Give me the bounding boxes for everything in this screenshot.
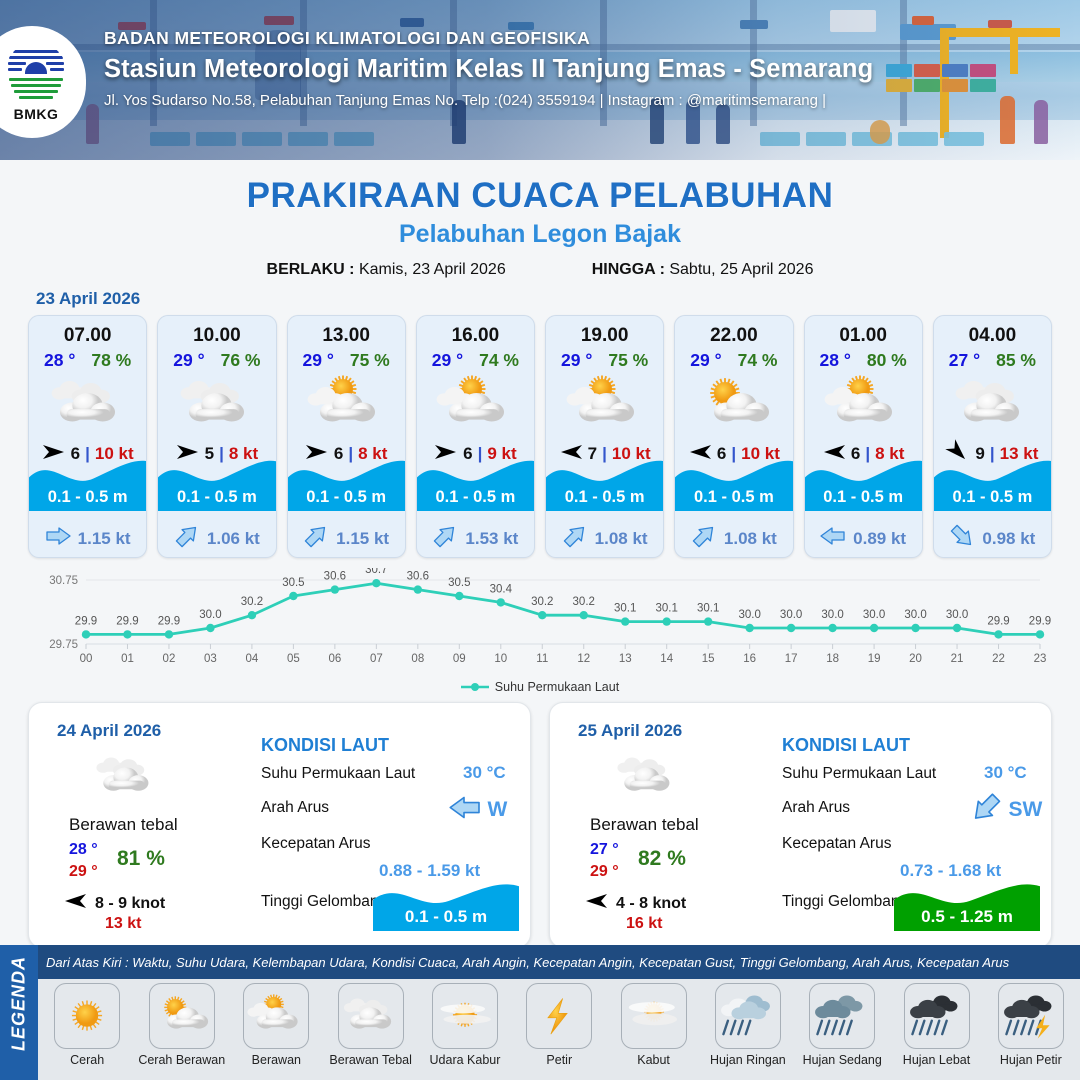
svg-text:30.0: 30.0 <box>780 609 802 621</box>
current-direction-label: Arah Arus <box>782 799 850 817</box>
current-direction-arrow-icon <box>45 526 71 551</box>
svg-text:29.9: 29.9 <box>987 615 1009 627</box>
svg-text:00: 00 <box>80 653 93 665</box>
panel-wind: 4 - 8 knot <box>584 891 686 916</box>
forecast-card: 16.00 29 ° 74 % <box>416 315 535 558</box>
chart-legend-label: Suhu Permukaan Laut <box>495 680 619 694</box>
sea-condition-title: KONDISI LAUT <box>261 735 389 756</box>
wave-height: 0.1 - 0.5 m <box>675 488 792 507</box>
svg-text:30.0: 30.0 <box>863 609 885 621</box>
svg-text:06: 06 <box>328 653 341 665</box>
legend-section: LEGENDA Dari Atas Kiri : Waktu, Suhu Uda… <box>0 945 1080 1080</box>
forecast-temperature: 29 ° <box>173 350 204 371</box>
current-direction-arrow-icon <box>691 526 717 551</box>
legend-sidebar-label: LEGENDA <box>9 952 30 1056</box>
forecast-card: 22.00 29 ° 74 % 6 | 10 <box>674 315 793 558</box>
forecast-temperature: 29 ° <box>303 350 334 371</box>
forecast-humidity: 76 % <box>221 350 261 371</box>
hujan-sedang-icon <box>809 983 875 1049</box>
panel-condition: Berawan tebal <box>69 815 178 835</box>
forecast-temperature: 28 ° <box>820 350 851 371</box>
current-speed: 1.06 kt <box>207 529 260 549</box>
cerah-icon <box>54 983 120 1049</box>
svg-text:19: 19 <box>868 653 881 665</box>
forecast-humidity: 85 % <box>996 350 1036 371</box>
current-direction-arrow-icon <box>949 526 975 551</box>
panel-temp-max: 29 ° <box>69 863 98 881</box>
wind-direction-arrow-icon <box>63 891 87 916</box>
daily-forecast-panel: 24 April 2026 <box>28 702 531 948</box>
forecast-card: 10.00 29 ° 76 % <box>157 315 276 558</box>
forecast-card-row: 07.00 28 ° 78 % <box>0 309 1080 558</box>
wave-height-label: Tinggi Gelombang <box>782 893 908 911</box>
wave-height: 0.1 - 0.5 m <box>158 488 275 507</box>
berawan-icon <box>546 373 663 435</box>
svg-text:30.0: 30.0 <box>821 609 843 621</box>
panel-humidity: 81 % <box>117 847 165 871</box>
panel-temp-max: 29 ° <box>590 863 619 881</box>
current-direction-value: W <box>488 798 508 822</box>
forecast-humidity: 78 % <box>91 350 131 371</box>
svg-text:16: 16 <box>743 653 756 665</box>
legend-sidebar: LEGENDA <box>0 945 38 1080</box>
header-banner: BMKG BADAN METEOROLOGI KLIMATOLOGI DAN G… <box>0 0 1080 160</box>
svg-text:30.5: 30.5 <box>448 577 470 589</box>
svg-text:30.1: 30.1 <box>656 603 678 615</box>
berawan-icon <box>417 373 534 435</box>
berawan-icon <box>805 373 922 435</box>
forecast-time: 04.00 <box>934 316 1051 347</box>
current-direction-value: SW <box>1009 798 1043 822</box>
panel-wind-speed: 8 - 9 knot <box>95 895 165 913</box>
svg-text:30.1: 30.1 <box>697 603 719 615</box>
legend-item-label: Cerah <box>70 1053 104 1067</box>
forecast-humidity: 80 % <box>867 350 907 371</box>
panel-gust: 16 kt <box>626 915 662 933</box>
legend-item: Hujan Sedang <box>799 983 885 1067</box>
hingga-group: HINGGA : Sabtu, 25 April 2026 <box>592 261 814 279</box>
panel-date: 25 April 2026 <box>578 721 682 741</box>
svg-text:30.2: 30.2 <box>241 596 263 608</box>
petir-icon <box>526 983 592 1049</box>
current-speed-value: 0.88 - 1.59 kt <box>379 861 480 881</box>
svg-text:30.6: 30.6 <box>407 571 429 583</box>
forecast-time: 13.00 <box>288 316 405 347</box>
sst-value: 30 °C <box>984 763 1027 783</box>
svg-text:17: 17 <box>785 653 798 665</box>
berlaku-value: Kamis, 23 April 2026 <box>359 261 506 278</box>
current-speed-label: Kecepatan Arus <box>782 835 891 853</box>
current-direction-arrow-icon <box>970 795 1003 825</box>
forecast-card: 19.00 29 ° 75 % <box>545 315 664 558</box>
legend-item: Cerah <box>44 983 130 1067</box>
svg-text:20: 20 <box>909 653 922 665</box>
page-subtitle: Pelabuhan Legon Bajak <box>0 220 1080 249</box>
svg-text:29.9: 29.9 <box>116 615 138 627</box>
svg-text:07: 07 <box>370 653 383 665</box>
panel-wave-height: 0.5 - 1.25 m <box>894 907 1040 927</box>
svg-text:02: 02 <box>163 653 176 665</box>
agency-name: BADAN METEOROLOGI KLIMATOLOGI DAN GEOFIS… <box>104 28 873 49</box>
svg-text:30.0: 30.0 <box>738 609 760 621</box>
sst-label: Suhu Permukaan Laut <box>782 765 936 783</box>
legend-item: Petir <box>516 983 602 1067</box>
panel-temp-min: 28 ° <box>69 841 98 859</box>
current-direction-arrow-icon <box>562 526 588 551</box>
current-direction-arrow-icon <box>449 795 482 825</box>
forecast-time: 22.00 <box>675 316 792 347</box>
current-direction-group: SW <box>970 795 1042 825</box>
current-direction-arrow-icon <box>174 526 200 551</box>
forecast-humidity: 74 % <box>479 350 519 371</box>
svg-text:03: 03 <box>204 653 217 665</box>
svg-text:18: 18 <box>826 653 839 665</box>
svg-text:30.7: 30.7 <box>365 568 387 576</box>
current-speed: 1.08 kt <box>724 529 777 549</box>
legend-item-label: Petir <box>546 1053 572 1067</box>
forecast-row-date: 23 April 2026 <box>36 289 1080 309</box>
current-speed: 1.53 kt <box>465 529 518 549</box>
hujan-petir-icon <box>998 983 1064 1049</box>
svg-text:29.9: 29.9 <box>158 615 180 627</box>
current-direction-label: Arah Arus <box>261 799 329 817</box>
current-direction-arrow-icon <box>820 526 846 551</box>
forecast-humidity: 75 % <box>608 350 648 371</box>
berlaku-group: BERLAKU : Kamis, 23 April 2026 <box>267 261 506 279</box>
berawan-icon <box>243 983 309 1049</box>
station-name: Stasiun Meteorologi Maritim Kelas II Tan… <box>104 55 873 84</box>
forecast-time: 19.00 <box>546 316 663 347</box>
legend-item: Berawan Tebal <box>327 983 413 1067</box>
panel-wind-speed: 4 - 8 knot <box>616 895 686 913</box>
legend-item: Cerah Berawan <box>138 983 225 1067</box>
svg-text:30.6: 30.6 <box>324 571 346 583</box>
svg-text:15: 15 <box>702 653 715 665</box>
wave-height: 0.1 - 0.5 m <box>805 488 922 507</box>
svg-text:29.9: 29.9 <box>75 615 97 627</box>
daily-forecast-panel: 25 April 2026 <box>549 702 1052 948</box>
current-direction-arrow-icon <box>432 526 458 551</box>
berlaku-label: BERLAKU : <box>267 261 355 278</box>
legend-item-label: Kabut <box>637 1053 670 1067</box>
legend-item-label: Berawan Tebal <box>329 1053 411 1067</box>
panel-condition: Berawan tebal <box>590 815 699 835</box>
forecast-temperature: 29 ° <box>432 350 463 371</box>
daily-panel-row: 24 April 2026 <box>0 694 1080 948</box>
legend-item-label: Hujan Lebat <box>903 1053 970 1067</box>
svg-text:14: 14 <box>660 653 673 665</box>
chart-legend: Suhu Permukaan Laut <box>0 680 1080 694</box>
sst-chart-svg: 30.7529.75000102030405060708091011121314… <box>24 568 1056 678</box>
bmkg-logo-mark <box>5 42 67 104</box>
svg-text:30.1: 30.1 <box>614 603 636 615</box>
current-speed: 0.89 kt <box>853 529 906 549</box>
svg-text:30.2: 30.2 <box>573 596 595 608</box>
legend-item: Hujan Lebat <box>893 983 979 1067</box>
chart-legend-marker-icon <box>461 682 489 692</box>
forecast-temperature: 27 ° <box>949 350 980 371</box>
legend-item: Hujan Ringan <box>705 983 791 1067</box>
berawan-tebal-icon <box>612 751 683 807</box>
svg-text:30.0: 30.0 <box>904 609 926 621</box>
bmkg-logo-text: BMKG <box>14 106 59 122</box>
wind-direction-arrow-icon <box>584 891 608 916</box>
wave-height: 0.1 - 0.5 m <box>288 488 405 507</box>
panel-humidity: 82 % <box>638 847 686 871</box>
svg-text:08: 08 <box>411 653 424 665</box>
forecast-time: 07.00 <box>29 316 146 347</box>
current-speed: 1.15 kt <box>78 529 131 549</box>
forecast-temperature: 29 ° <box>690 350 721 371</box>
berawan-icon <box>288 373 405 435</box>
svg-text:23: 23 <box>1034 653 1047 665</box>
svg-text:21: 21 <box>951 653 964 665</box>
svg-text:04: 04 <box>246 653 259 665</box>
sst-label: Suhu Permukaan Laut <box>261 765 415 783</box>
forecast-card: 01.00 28 ° 80 % <box>804 315 923 558</box>
legend-item-label: Berawan <box>252 1053 301 1067</box>
forecast-time: 01.00 <box>805 316 922 347</box>
svg-text:30.75: 30.75 <box>49 575 78 587</box>
forecast-card: 13.00 29 ° 75 % <box>287 315 406 558</box>
hingga-label: HINGGA : <box>592 261 665 278</box>
svg-text:30.0: 30.0 <box>946 609 968 621</box>
station-address: Jl. Yos Sudarso No.58, Pelabuhan Tanjung… <box>104 92 873 109</box>
panel-temp-min: 27 ° <box>590 841 619 859</box>
wave-height: 0.1 - 0.5 m <box>29 488 146 507</box>
legend-item-label: Hujan Sedang <box>803 1053 882 1067</box>
sst-value: 30 °C <box>463 763 506 783</box>
wave-height: 0.1 - 0.5 m <box>417 488 534 507</box>
legend-item-label: Hujan Petir <box>1000 1053 1062 1067</box>
legend-item: Kabut <box>610 983 696 1067</box>
legend-item: Udara Kabur <box>422 983 508 1067</box>
berawan-tebal-icon <box>91 751 162 807</box>
forecast-humidity: 74 % <box>738 350 778 371</box>
current-speed: 1.15 kt <box>336 529 389 549</box>
legend-items: Cerah Cerah Berawan <box>44 983 1074 1067</box>
svg-text:30.5: 30.5 <box>282 577 304 589</box>
current-speed: 1.08 kt <box>595 529 648 549</box>
svg-text:13: 13 <box>619 653 632 665</box>
forecast-card: 07.00 28 ° 78 % <box>28 315 147 558</box>
cerah-berawan-icon <box>149 983 215 1049</box>
svg-text:30.2: 30.2 <box>531 596 553 608</box>
svg-text:22: 22 <box>992 653 1005 665</box>
legend-item-label: Udara Kabur <box>430 1053 501 1067</box>
hingga-value: Sabtu, 25 April 2026 <box>669 261 813 278</box>
svg-text:09: 09 <box>453 653 466 665</box>
panel-date: 24 April 2026 <box>57 721 161 741</box>
current-speed: 0.98 kt <box>982 529 1035 549</box>
berawan-tebal-icon <box>934 373 1051 435</box>
current-speed-value: 0.73 - 1.68 kt <box>900 861 1001 881</box>
svg-text:29.9: 29.9 <box>1029 615 1051 627</box>
berawan-tebal-icon <box>29 373 146 435</box>
svg-text:10: 10 <box>494 653 507 665</box>
svg-text:11: 11 <box>536 653 548 665</box>
wave-height-label: Tinggi Gelombang <box>261 893 387 911</box>
legend-item-label: Cerah Berawan <box>138 1053 225 1067</box>
sst-chart: 30.7529.75000102030405060708091011121314… <box>24 568 1056 678</box>
svg-text:12: 12 <box>577 653 590 665</box>
legend-item: Hujan Petir <box>988 983 1074 1067</box>
panel-wind: 8 - 9 knot <box>63 891 165 916</box>
hujan-lebat-icon <box>904 983 970 1049</box>
page-title: PRAKIRAAN CUACA PELABUHAN <box>0 176 1080 216</box>
svg-text:30.0: 30.0 <box>199 609 221 621</box>
sea-condition-title: KONDISI LAUT <box>782 735 910 756</box>
validity-row: BERLAKU : Kamis, 23 April 2026 HINGGA : … <box>0 261 1080 279</box>
kabut-icon <box>621 983 687 1049</box>
forecast-temperature: 29 ° <box>561 350 592 371</box>
current-direction-group: W <box>449 795 507 825</box>
forecast-time: 16.00 <box>417 316 534 347</box>
berawan-tebal-icon <box>158 373 275 435</box>
current-speed-label: Kecepatan Arus <box>261 835 370 853</box>
berawan-tebal-icon <box>338 983 404 1049</box>
panel-gust: 13 kt <box>105 915 141 933</box>
udara-kabur-icon <box>432 983 498 1049</box>
current-direction-arrow-icon <box>303 526 329 551</box>
forecast-temperature: 28 ° <box>44 350 75 371</box>
legend-note: Dari Atas Kiri : Waktu, Suhu Udara, Kele… <box>38 945 1080 979</box>
forecast-card: 04.00 27 ° 85 % <box>933 315 1052 558</box>
legend-item: Berawan <box>233 983 319 1067</box>
legend-item-label: Hujan Ringan <box>710 1053 786 1067</box>
cerah-berawan-icon <box>675 373 792 435</box>
forecast-time: 10.00 <box>158 316 275 347</box>
wave-height: 0.1 - 0.5 m <box>546 488 663 507</box>
panel-wave-height: 0.1 - 0.5 m <box>373 907 519 927</box>
hujan-ringan-icon <box>715 983 781 1049</box>
wave-height: 0.1 - 0.5 m <box>934 488 1051 507</box>
forecast-humidity: 75 % <box>350 350 390 371</box>
svg-text:30.4: 30.4 <box>490 583 513 595</box>
svg-text:05: 05 <box>287 653 300 665</box>
svg-text:01: 01 <box>121 653 134 665</box>
svg-text:29.75: 29.75 <box>49 639 78 651</box>
